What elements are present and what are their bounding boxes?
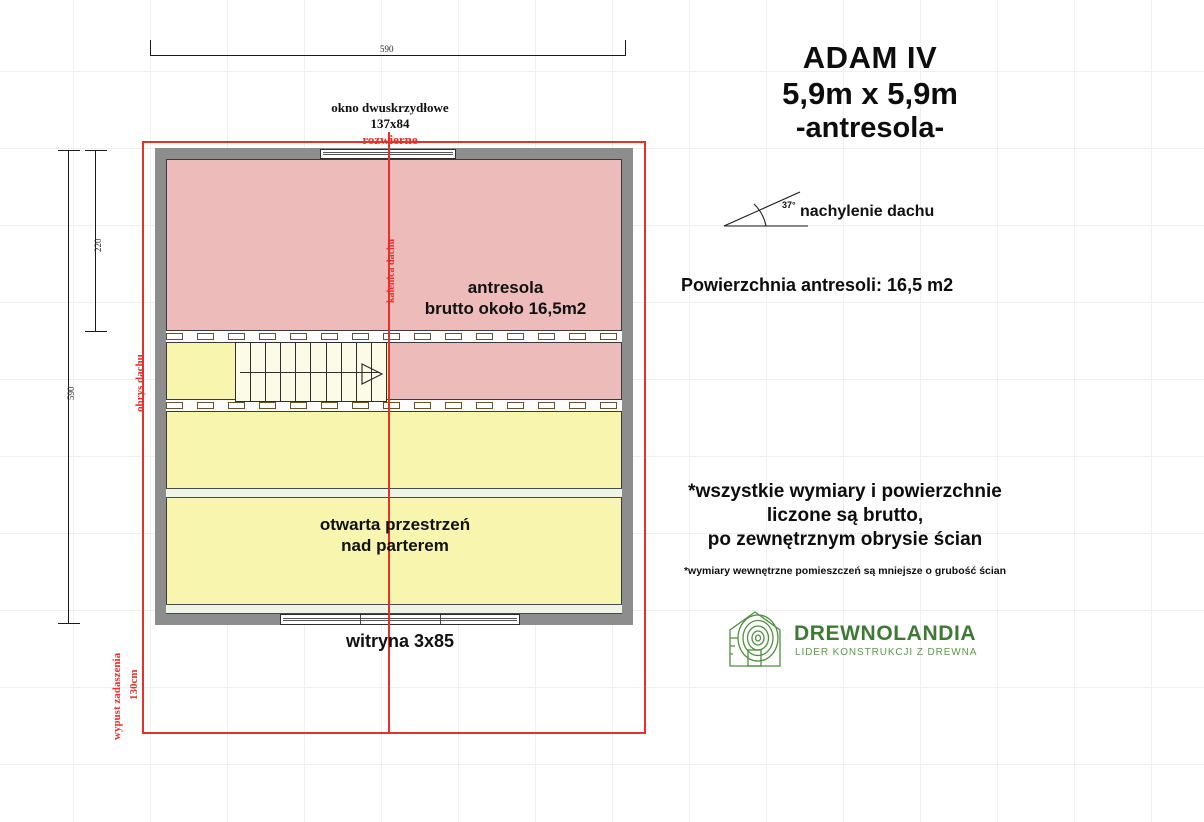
top-window-annotation-line3: rozwierne (286, 132, 494, 148)
balustrade-post (290, 402, 307, 409)
title-line3: -antresola- (660, 112, 1080, 146)
bottom-window-opening (280, 614, 520, 625)
bottom-window-mullion (360, 615, 361, 624)
bottom-window-label: witryna 3x85 (300, 631, 500, 653)
roof-pitch-angle-label: 37° (782, 200, 796, 210)
tree-rings-house-icon (722, 608, 788, 670)
floor-beam-mid (166, 488, 622, 498)
balustrade-post (569, 333, 586, 340)
title-line2: 5,9m x 5,9m (660, 76, 1080, 112)
staircase (235, 342, 387, 402)
left-total-tick-top (58, 150, 80, 151)
stair-direction-arrow-icon (360, 361, 384, 387)
balustrade-post (259, 333, 276, 340)
balustrade-post (197, 402, 214, 409)
balustrade-post (228, 333, 245, 340)
page-title: ADAM IV 5,9m x 5,9m -antresola- (660, 40, 1080, 146)
title-line1: ADAM IV (660, 40, 1080, 76)
bottom-window-mullion (440, 615, 441, 624)
balustrade-post (197, 333, 214, 340)
stair-direction-axis (240, 372, 380, 373)
balustrade-post (414, 402, 431, 409)
balustrade-post (383, 402, 400, 409)
balustrade-post (507, 333, 524, 340)
mezzanine-area-text: Powierzchnia antresoli: 16,5 m2 (681, 275, 953, 296)
top-dimension-tick-right (625, 40, 626, 56)
balustrade-post (383, 333, 400, 340)
top-window-annotation: okno dwuskrzydłowe 137x84 rozwierne (286, 100, 494, 148)
left-partial-dimension-label: 220 (93, 239, 103, 253)
open-space-label: otwarta przestrzeń nad parterem (275, 515, 515, 556)
balustrade-post (569, 402, 586, 409)
balustrade-post (507, 402, 524, 409)
logo-tagline: LIDER KONSTRUKCJI Z DREWNA (795, 647, 977, 658)
balustrade-post (166, 333, 183, 340)
balustrade-post (538, 333, 555, 340)
top-dimension-tick-left (150, 40, 151, 56)
mezzanine-label: antresola brutto około 16,5m2 (388, 278, 623, 319)
bottom-window-sash (283, 618, 517, 621)
open-space-label-line1: otwarta przestrzeń (275, 515, 515, 536)
drawing-sheet: 590 590 220 obrys dachu wypust zadaszeni… (0, 0, 1204, 822)
balustrade-post (538, 402, 555, 409)
balustrade-post (445, 402, 462, 409)
balustrade-upper-posts (166, 333, 622, 339)
notes-line3: po zewnętrznym obrysie ścian (660, 528, 1030, 552)
balustrade-post (166, 402, 183, 409)
left-partial-tick-top (85, 150, 107, 151)
notes-line1: *wszystkie wymiary i powierzchnie (660, 480, 1030, 504)
company-logo: DREWNOLANDIA LIDER KONSTRUKCJI Z DREWNA (722, 608, 972, 670)
balustrade-post (445, 333, 462, 340)
left-partial-tick-bottom (85, 331, 107, 332)
balustrade-post (476, 333, 493, 340)
left-total-dimension-label: 590 (66, 387, 76, 401)
left-total-tick-bottom (58, 623, 80, 624)
balustrade-post (352, 333, 369, 340)
overhang-label-line1: wypust zadaszenia (111, 653, 123, 740)
notes-block: *wszystkie wymiary i powierzchnie liczon… (660, 480, 1030, 551)
roof-pitch-angle-icon (722, 190, 812, 230)
top-window-annotation-line2: 137x84 (286, 116, 494, 132)
notes-footnote: *wymiary wewnętrzne pomieszczeń są mniej… (660, 565, 1030, 578)
balustrade-post (352, 402, 369, 409)
balustrade-post (228, 402, 245, 409)
balustrade-post (476, 402, 493, 409)
roof-pitch-text: nachylenie dachu (800, 203, 934, 221)
overhang-label-line2: 130cm (128, 669, 140, 700)
balustrade-post (321, 402, 338, 409)
mezzanine-label-line1: antresola (388, 278, 623, 299)
balustrade-post (600, 333, 617, 340)
balustrade-post (290, 333, 307, 340)
open-space-label-line2: nad parterem (275, 536, 515, 557)
balustrade-post (600, 402, 617, 409)
balustrade-post (259, 402, 276, 409)
roof-outline-label: obrys dachu (134, 354, 146, 412)
roof-pitch-annotation: 37° nachylenie dachu (722, 190, 1022, 232)
notes-line2: liczone są brutto, (660, 504, 1030, 528)
top-window-annotation-line1: okno dwuskrzydłowe (286, 100, 494, 116)
top-dimension-label: 590 (380, 44, 394, 54)
balustrade-post (321, 333, 338, 340)
floor-beam-lower (166, 604, 622, 614)
top-dimension-line (150, 55, 626, 56)
mezzanine-label-line2: brutto około 16,5m2 (388, 299, 623, 320)
balustrade-mezzanine-posts (166, 402, 622, 408)
balustrade-post (414, 333, 431, 340)
logo-name: DREWNOLANDIA (794, 622, 976, 646)
